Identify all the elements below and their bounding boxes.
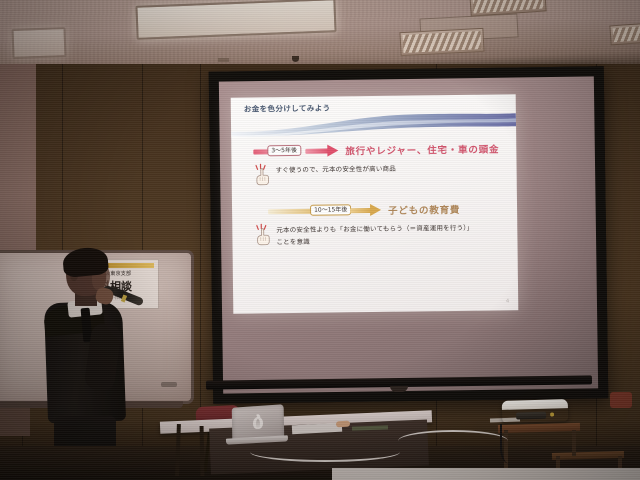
- projector: [502, 399, 569, 423]
- slide-page-number: 4: [506, 298, 509, 304]
- projector-status-led: [550, 413, 554, 417]
- slide-row-2: 10～15年後 子どもの教育費: [232, 200, 517, 221]
- slide-headline-1: 旅行やレジャー、住宅・車の頭金: [345, 141, 499, 157]
- foreground-white-surface: [332, 468, 640, 480]
- timeline-tag-2: 10～15年後: [310, 204, 351, 216]
- slide-note-1: すぐ使うので、元本の安全性が高い商品: [276, 164, 396, 175]
- slide-note-2-line-1: 元本の安全性よりも「お金に働いてもらう（＝資産運用を行う）」: [276, 223, 473, 235]
- slide-row-1: 3～5年後 旅行やレジャー、住宅・車の頭金: [231, 140, 516, 161]
- projector-cable: [500, 424, 524, 464]
- projector-vent: [516, 412, 546, 420]
- cart-leg: [572, 430, 576, 456]
- projected-slide: お金を色分けしてみよう 3～5年後 旅行やレジャー、住宅・車の頭金 すぐ使うので…: [231, 94, 519, 313]
- timeline-tag-1: 3～5年後: [267, 145, 301, 156]
- power-cable: [398, 430, 508, 452]
- slide-title: お金を色分けしてみよう: [244, 103, 331, 115]
- power-cable: [250, 442, 400, 462]
- table-leg: [200, 426, 205, 476]
- equipment-case: [610, 392, 632, 408]
- ceiling-speaker: [218, 58, 229, 62]
- pointing-hand-icon: [255, 163, 270, 185]
- desk-object: [336, 421, 350, 428]
- ceiling-air-vent: [609, 23, 640, 46]
- timeline-bar-1b: [305, 149, 329, 154]
- slide-note-2-line-2: ことを意識: [276, 237, 310, 247]
- timeline-bar-2b: [350, 208, 372, 213]
- projector-top-cover: [502, 399, 568, 410]
- sprinkler-head: [292, 56, 299, 62]
- whiteboard-marker: [161, 382, 177, 387]
- ceiling-air-vent: [399, 28, 484, 56]
- ceiling-light-fixture: [11, 27, 66, 59]
- presenter-hair: [62, 246, 109, 278]
- timeline-arrowhead-2: [370, 204, 381, 216]
- seminar-room-photo: 協会東京支部 料相談 無料相談会: [0, 0, 640, 480]
- slide-headline-2: 子どもの教育費: [388, 202, 460, 217]
- timeline-arrowhead-1: [327, 144, 338, 156]
- ceiling: [0, 0, 640, 72]
- apple-logo-icon: [253, 416, 263, 429]
- timeline-bar-2: [268, 209, 316, 215]
- pointing-hand-icon: [256, 223, 271, 245]
